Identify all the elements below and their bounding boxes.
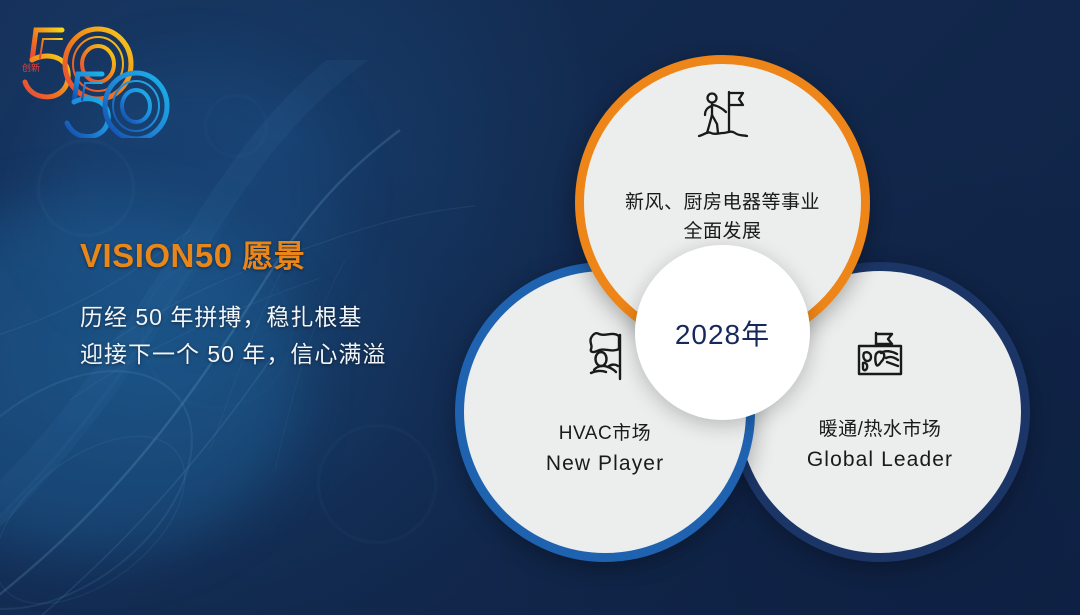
- logo-caption: 创新: [22, 62, 40, 73]
- person-holding-flag-icon: [577, 329, 633, 388]
- mountain-summit-flag-icon: [695, 88, 751, 145]
- circle-left-line-1: HVAC市场: [546, 420, 664, 449]
- logo-svg: 创新: [6, 8, 186, 138]
- circle-left-line-2: New Player: [546, 449, 664, 479]
- center-year-circle[interactable]: 2028年: [635, 245, 810, 420]
- circle-top-line-2: 全面发展: [625, 218, 820, 247]
- venn-diagram: 暖通/热水市场 Global Leader HVAC市场 New Player: [430, 0, 1080, 615]
- anniversary-logo: 创新: [6, 8, 186, 138]
- bg-bubble-2: [318, 425, 436, 543]
- year-label: 2028年: [675, 313, 770, 353]
- bg-bubble-1: [38, 140, 134, 236]
- slide-canvas: 创新 VISION50 愿景 历经 50 年拼搏，稳扎根基 迎接下一个 50 年…: [0, 0, 1080, 615]
- page-title-cn: 愿景: [242, 239, 305, 274]
- page-title-en: VISION50: [80, 237, 233, 274]
- circle-top-text: 新风、厨房电器等事业 全面发展: [625, 189, 820, 246]
- circle-right-line-2: Global Leader: [807, 445, 953, 475]
- circle-left-text: HVAC市场 New Player: [546, 420, 664, 479]
- world-map-flag-icon: [854, 329, 906, 384]
- circle-right-line-1: 暖通/热水市场: [807, 416, 953, 445]
- bg-bubble-3: [205, 95, 267, 157]
- circle-right-text: 暖通/热水市场 Global Leader: [807, 416, 953, 475]
- circle-top-line-1: 新风、厨房电器等事业: [625, 189, 820, 218]
